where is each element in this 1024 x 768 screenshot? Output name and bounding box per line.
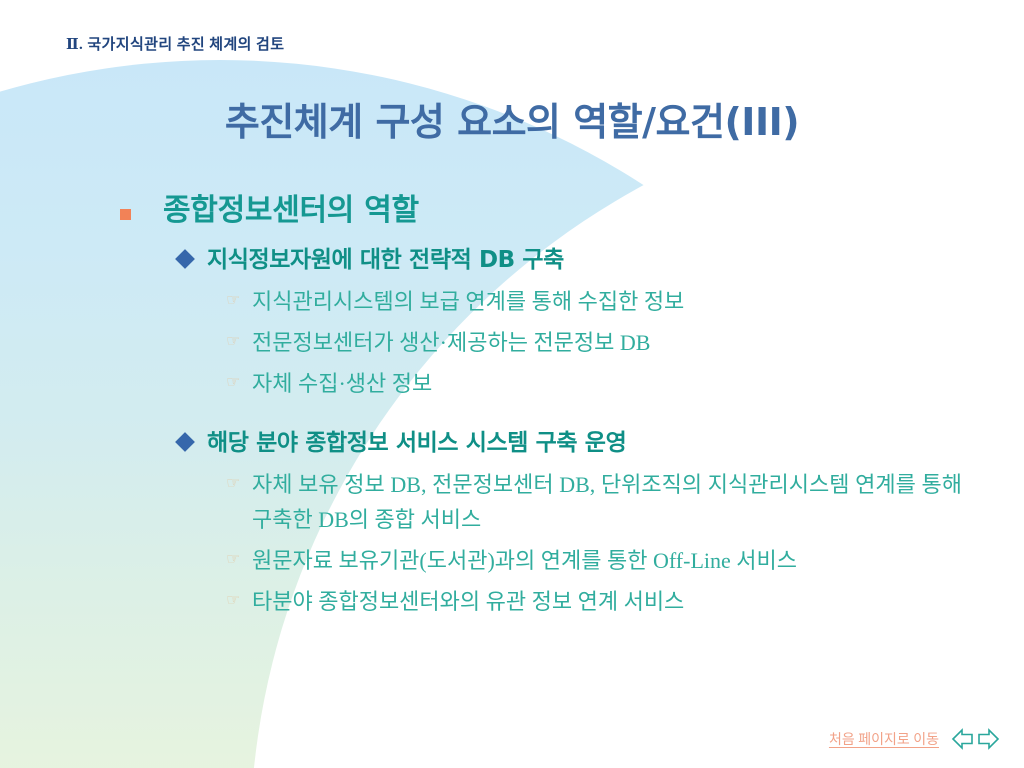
hand-pointer-bullet-icon: ☞ [226,328,240,354]
navigation-arrows[interactable] [951,728,1000,750]
bullet-level3-label: 자체 보유 정보 DB, 전문정보센터 DB, 단위조직의 지식관리시스템 연계… [252,467,962,537]
bullet-level1-label: 종합정보센터의 역할 [163,193,419,228]
diamond-bullet-icon [175,249,195,269]
go-to-first-page-link[interactable]: 처음 페이지로 이동 [829,729,939,749]
arrow-right-icon[interactable] [976,728,1000,750]
bullet-level2: 해당 분야 종합정보 서비스 시스템 구축 운영 [0,425,1024,461]
bullet-level2: 지식정보자원에 대한 전략적 DB 구축 [0,242,1024,278]
bullet-level2-label: 지식정보자원에 대한 전략적 DB 구축 [207,247,564,273]
bullet-level3-label: 자체 수집·생산 정보 [252,366,962,401]
square-bullet-icon [120,209,131,220]
hand-pointer-bullet-icon: ☞ [226,470,240,496]
arrow-left-icon[interactable] [951,728,975,750]
bullet-level3: ☞ 원문자료 보유기관(도서관)과의 연계를 통한 Off-Line 서비스 [0,543,1024,578]
bullet-level3-label: 지식관리시스템의 보급 연계를 통해 수집한 정보 [252,284,962,319]
hand-pointer-bullet-icon: ☞ [226,546,240,572]
slide-content: Ⅱ. 국가지식관리 추진 체계의 검토 추진체계 구성 요소의 역할/요건(II… [0,0,1024,768]
hand-pointer-bullet-icon: ☞ [226,287,240,313]
hand-pointer-bullet-icon: ☞ [226,369,240,395]
bullet-level3: ☞ 타분야 종합정보센터와의 유관 정보 연계 서비스 [0,584,1024,619]
bullet-level3: ☞ 지식관리시스템의 보급 연계를 통해 수집한 정보 [0,284,1024,319]
diamond-bullet-icon [175,432,195,452]
bullet-level3: ☞ 자체 보유 정보 DB, 전문정보센터 DB, 단위조직의 지식관리시스템 … [0,467,1024,537]
slide-footer: 처음 페이지로 이동 [829,728,1000,750]
bullet-level3: ☞ 전문정보센터가 생산·제공하는 전문정보 DB [0,325,1024,360]
hand-pointer-bullet-icon: ☞ [226,587,240,613]
slide-body: 종합정보센터의 역할 지식정보자원에 대한 전략적 DB 구축 ☞ 지식관리시스… [0,188,1024,619]
section-kicker: Ⅱ. 국가지식관리 추진 체계의 검토 [66,33,284,54]
bullet-level2-label: 해당 분야 종합정보 서비스 시스템 구축 운영 [207,430,626,456]
bullet-level3-label: 원문자료 보유기관(도서관)과의 연계를 통한 Off-Line 서비스 [252,543,962,578]
bullet-level3-label: 전문정보센터가 생산·제공하는 전문정보 DB [252,325,962,360]
page-title: 추진체계 구성 요소의 역할/요건(III) [0,91,1024,146]
bullet-level3: ☞ 자체 수집·생산 정보 [0,366,1024,401]
bullet-level1: 종합정보센터의 역할 [0,188,1024,234]
bullet-level3-label: 타분야 종합정보센터와의 유관 정보 연계 서비스 [252,584,962,619]
slide-canvas: Ⅱ. 국가지식관리 추진 체계의 검토 추진체계 구성 요소의 역할/요건(II… [0,0,1024,768]
group-spacer [0,401,1024,417]
